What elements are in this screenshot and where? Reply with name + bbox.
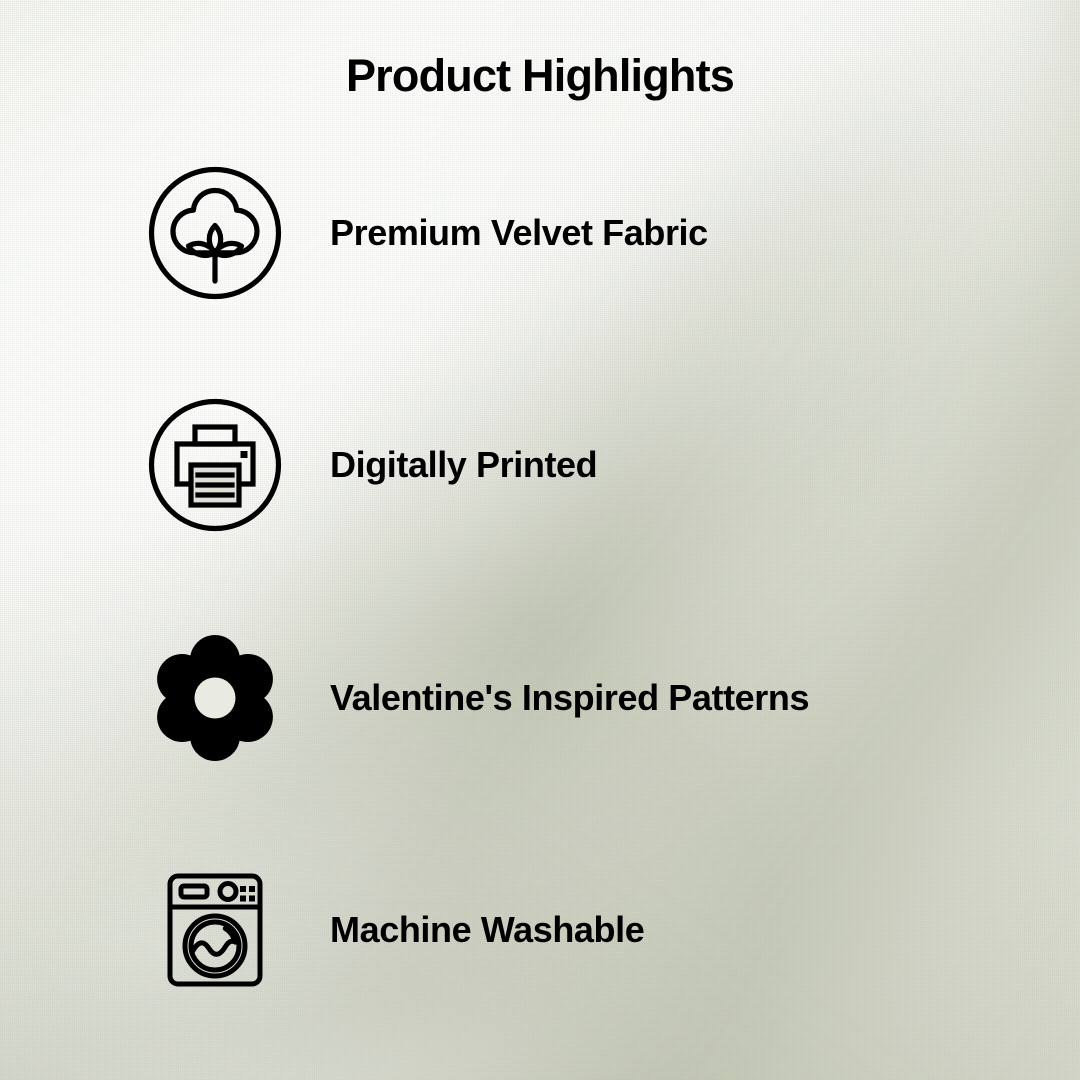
flower-icon [140,623,290,773]
highlight-item-machine-washable: Machine Washable [140,855,1040,1005]
washing-machine-icon [140,855,290,1005]
content-layer: Product Highlights Premium Vel [0,0,1080,1080]
highlight-label: Valentine's Inspired Patterns [330,680,809,716]
highlight-label: Premium Velvet Fabric [330,215,708,251]
highlight-item-valentines-inspired-patterns: Valentine's Inspired Patterns [140,623,1040,773]
highlight-label: Machine Washable [330,912,644,948]
product-highlights-card: Product Highlights Premium Vel [0,0,1080,1080]
printer-icon [140,390,290,540]
cotton-boll-icon [140,158,290,308]
highlight-label: Digitally Printed [330,447,597,483]
highlight-item-digitally-printed: Digitally Printed [140,390,1040,540]
page-title: Product Highlights [0,50,1080,102]
highlight-item-premium-velvet-fabric: Premium Velvet Fabric [140,158,1040,308]
